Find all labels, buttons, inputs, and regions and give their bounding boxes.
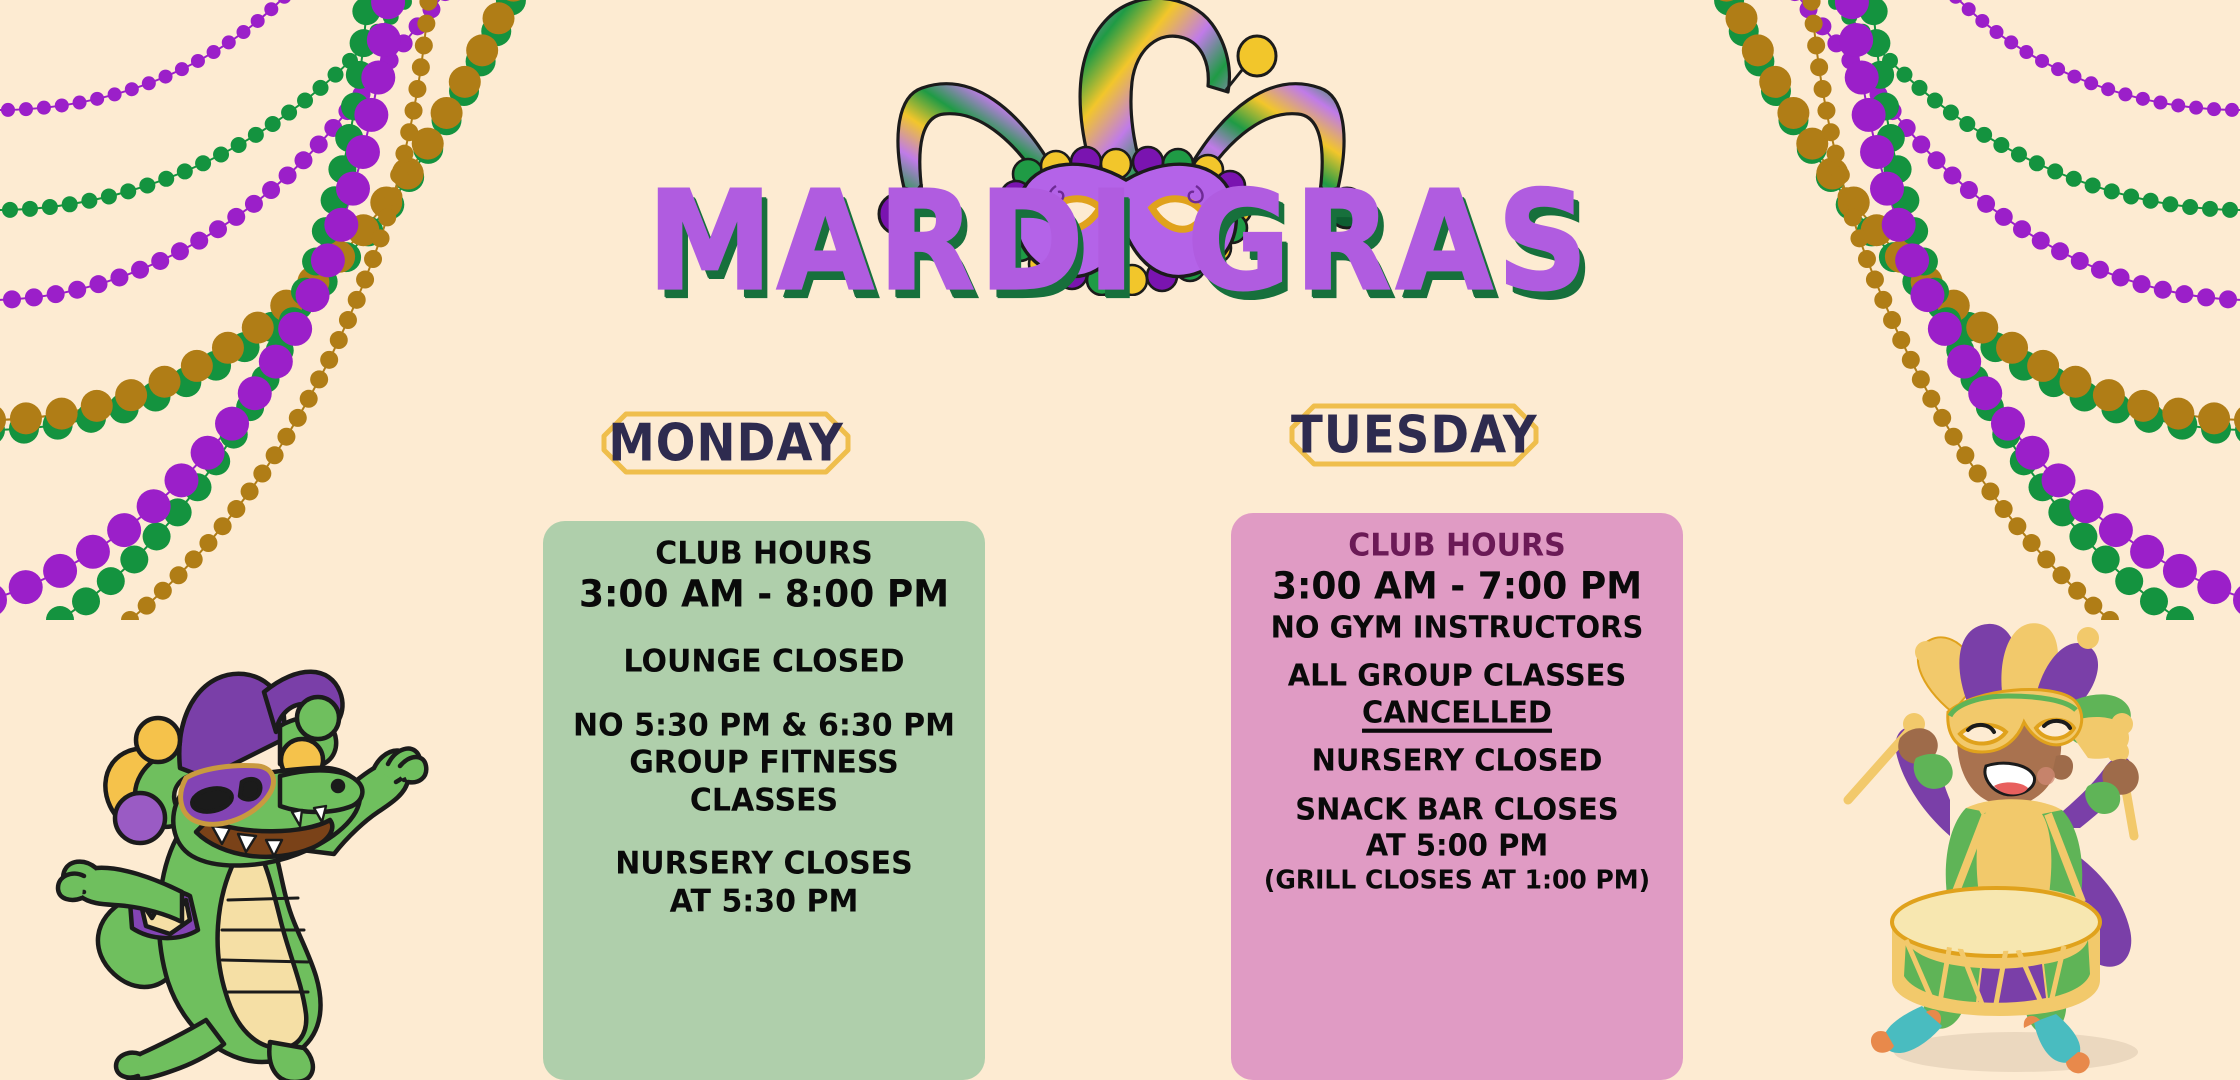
schedule-line: AT 5:30 PM bbox=[670, 884, 859, 919]
poster-canvas: MARDI GRAS MONDAY TUESDAY CLUB HOURS3:00… bbox=[0, 0, 2240, 1080]
schedule-line: 3:00 AM - 8:00 PM bbox=[579, 574, 949, 616]
day-badge-tuesday: TUESDAY bbox=[1288, 402, 1540, 468]
schedule-line: CLUB HOURS bbox=[655, 536, 872, 571]
schedule-line: NURSERY CLOSES bbox=[615, 847, 913, 882]
schedule-line: NO GYM INSTRUCTORS bbox=[1271, 610, 1644, 644]
page-title: MARDI GRAS bbox=[648, 174, 1593, 311]
schedule-line: NO 5:30 PM & 6:30 PM bbox=[573, 708, 955, 743]
schedule-line: CANCELLED bbox=[1362, 695, 1552, 729]
alligator-mascot-icon bbox=[30, 600, 450, 1080]
schedule-panel-monday: CLUB HOURS3:00 AM - 8:00 PMLOUNGE CLOSED… bbox=[543, 521, 985, 1080]
day-badge-monday: MONDAY bbox=[600, 410, 852, 476]
schedule-line: 3:00 AM - 7:00 PM bbox=[1272, 566, 1642, 608]
drummer-jester-icon bbox=[1800, 600, 2220, 1080]
poster-title-wrap: MARDI GRAS bbox=[0, 186, 2240, 298]
schedule-line: CLUB HOURS bbox=[1348, 528, 1565, 563]
schedule-line: NURSERY CLOSED bbox=[1312, 744, 1603, 778]
day-badge-label: MONDAY bbox=[608, 413, 844, 473]
schedule-line: AT 5:00 PM bbox=[1366, 829, 1548, 863]
schedule-line: ALL GROUP CLASSES bbox=[1288, 659, 1627, 693]
schedule-line: CLASSES bbox=[690, 783, 838, 818]
day-badge-label: TUESDAY bbox=[1291, 405, 1538, 465]
schedule-panel-tuesday: CLUB HOURS3:00 AM - 7:00 PMNO GYM INSTRU… bbox=[1231, 513, 1683, 1080]
schedule-line: GROUP FITNESS bbox=[629, 745, 899, 780]
schedule-line: LOUNGE CLOSED bbox=[623, 644, 904, 679]
schedule-line: (GRILL CLOSES AT 1:00 PM) bbox=[1264, 865, 1650, 894]
schedule-line: SNACK BAR CLOSES bbox=[1295, 792, 1618, 826]
